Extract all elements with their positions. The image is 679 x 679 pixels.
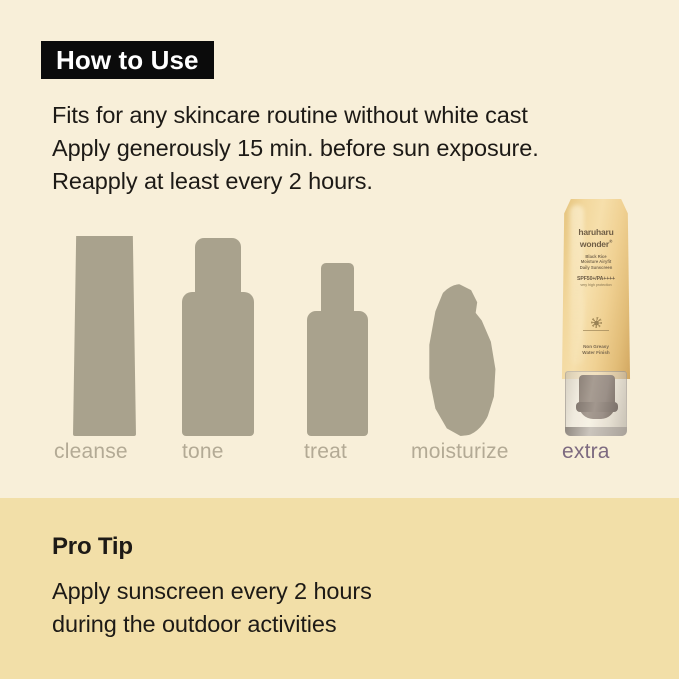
step-art-tone — [168, 238, 268, 436]
step-art-cleanse — [52, 236, 157, 436]
pro-tip-title: Pro Tip — [52, 533, 133, 561]
sunburst-emblem-icon — [559, 317, 633, 331]
product-brand-line-1: haruharu — [559, 227, 633, 237]
product-pump — [579, 375, 615, 419]
product-bottom-copy: Non Greasy Water Finish — [559, 344, 633, 357]
intro-line-3: Reapply at least every 2 hours. — [52, 165, 652, 198]
sunscreen-product-image: haruharu wonder® Black Rice Moisture Air… — [550, 199, 642, 436]
product-brand-line-2: wonder® — [559, 237, 633, 249]
step-art-moisturize — [412, 284, 512, 436]
how-to-use-section: How to Use Fits for any skincare routine… — [0, 0, 679, 498]
page-title: How to Use — [56, 47, 199, 73]
pro-tip-line-1: Apply sunscreen every 2 hours — [52, 575, 372, 608]
product-pump-ring — [576, 402, 618, 412]
bottle-silhouette-icon — [182, 238, 254, 436]
step-label-cleanse: cleanse — [54, 440, 128, 464]
product-spf-subtext: very high protection — [559, 283, 633, 288]
product-description-line-3: Daily Sunscreen — [559, 265, 633, 271]
pro-tip-section: Pro Tip Apply sunscreen every 2 hours du… — [0, 498, 679, 679]
product-description: Black Rice Moisture Airyfit Daily Sunscr… — [559, 254, 633, 271]
step-art-treat — [292, 263, 382, 436]
pro-tip-line-2: during the outdoor activities — [52, 608, 372, 641]
how-to-use-infographic: How to Use Fits for any skincare routine… — [0, 0, 679, 679]
step-art-extra: haruharu wonder® Black Rice Moisture Air… — [540, 199, 652, 436]
routine-step-labels: cleanse tone treat moisturize extra — [0, 440, 679, 468]
product-spf-rating: SPF50+/PA++++ — [559, 276, 633, 283]
intro-line-2: Apply generously 15 min. before sun expo… — [52, 132, 652, 165]
serum-silhouette-icon — [307, 263, 368, 436]
pro-tip-body: Apply sunscreen every 2 hours during the… — [52, 575, 372, 641]
intro-line-1: Fits for any skincare routine without wh… — [52, 99, 652, 132]
jar-silhouette-icon — [424, 284, 500, 436]
step-label-extra: extra — [562, 440, 610, 464]
section-title-banner: How to Use — [41, 41, 214, 79]
product-bottom-line-2: Water Finish — [559, 350, 633, 356]
step-label-treat: treat — [304, 440, 347, 464]
tube-silhouette-icon — [73, 236, 136, 436]
step-label-tone: tone — [182, 440, 224, 464]
intro-paragraph: Fits for any skincare routine without wh… — [52, 99, 652, 198]
routine-steps-row: haruharu wonder® Black Rice Moisture Air… — [0, 196, 679, 436]
product-label: haruharu wonder® Black Rice Moisture Air… — [559, 227, 633, 288]
product-cap-base — [565, 427, 627, 436]
step-label-moisturize: moisturize — [411, 440, 509, 464]
trademark-symbol: ® — [609, 239, 612, 244]
